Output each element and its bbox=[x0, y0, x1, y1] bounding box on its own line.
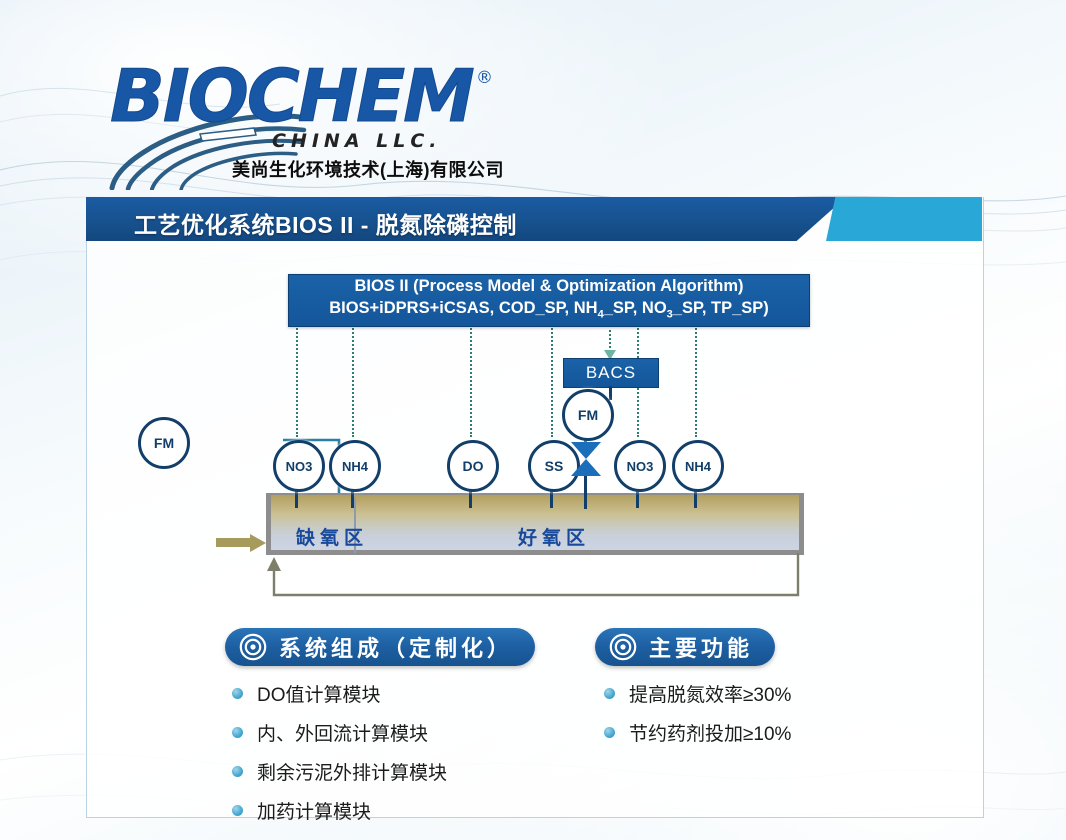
influent-arrow-icon bbox=[216, 534, 268, 552]
dashed-link-nh4-anoxic bbox=[352, 325, 354, 437]
target-icon bbox=[239, 633, 267, 661]
sensor-nh4-anoxic[interactable]: NH4 bbox=[329, 440, 381, 492]
bullet-dot-icon bbox=[232, 805, 243, 816]
slide-title-bar: 工艺优化系统BIOS II - 脱氮除磷控制 bbox=[86, 197, 982, 241]
bios-box-line1: BIOS II (Process Model & Optimization Al… bbox=[355, 275, 744, 297]
sensor-do-label: DO bbox=[463, 458, 484, 474]
list-item-label: 加药计算模块 bbox=[257, 797, 371, 824]
logo-registered-mark: ® bbox=[476, 68, 493, 88]
bacs-controller-box: BACS bbox=[563, 358, 659, 388]
list-item-label: 节约药剂投加≥10% bbox=[629, 719, 791, 746]
bios-model-box: BIOS II (Process Model & Optimization Al… bbox=[288, 274, 810, 327]
bullet-dot-icon bbox=[232, 688, 243, 699]
bullet-dot-icon bbox=[604, 727, 615, 738]
sensor-nh4-aerobic[interactable]: NH4 bbox=[672, 440, 724, 492]
sensor-nh4-aerobic-label: NH4 bbox=[685, 459, 711, 474]
brand-logo: BIOCHEM ® CHINA LLC. 美尚生化环境技术(上海)有限公司 bbox=[104, 52, 524, 184]
recirculation-line bbox=[261, 553, 806, 605]
section-header-main-functions: 主要功能 bbox=[595, 628, 775, 666]
list-item: 提高脱氮效率≥30% bbox=[604, 680, 791, 707]
sensor-no3-aerobic-label: NO3 bbox=[627, 459, 654, 474]
target-icon bbox=[609, 633, 637, 661]
bacs-label: BACS bbox=[586, 363, 636, 383]
sensor-fm-inlet-label: FM bbox=[154, 435, 174, 451]
control-valve-icon bbox=[569, 440, 603, 478]
logo-subtitle-cn: 美尚生化环境技术(上海)有限公司 bbox=[232, 156, 504, 182]
stem-fm-air-lower bbox=[584, 473, 587, 509]
sensor-nh4-anoxic-label: NH4 bbox=[342, 459, 368, 474]
list-item-label: 提高脱氮效率≥30% bbox=[629, 680, 791, 707]
sensor-no3-aerobic[interactable]: NO3 bbox=[614, 440, 666, 492]
list-item: DO值计算模块 bbox=[232, 680, 447, 707]
sensor-ss-label: SS bbox=[545, 458, 564, 474]
bullet-dot-icon bbox=[232, 727, 243, 738]
sensor-no3-anoxic[interactable]: NO3 bbox=[273, 440, 325, 492]
bios-line2-p0: BIOS+iDPRS+iCSAS, COD_SP, NH bbox=[329, 299, 597, 317]
list-item-label: 内、外回流计算模块 bbox=[257, 719, 428, 746]
sensor-no3-anoxic-label: NO3 bbox=[286, 459, 313, 474]
tank-zone-aerobic-label: 好氧区 bbox=[518, 523, 590, 550]
bullet-dot-icon bbox=[604, 688, 615, 699]
logo-wordmark: BIOCHEM bbox=[110, 56, 473, 136]
main-functions-list: 提高脱氮效率≥30% 节约药剂投加≥10% bbox=[604, 680, 791, 758]
section-header-system-composition: 系统组成（定制化） bbox=[225, 628, 535, 666]
section-title-system-composition: 系统组成（定制化） bbox=[279, 631, 513, 663]
list-item: 节约药剂投加≥10% bbox=[604, 719, 791, 746]
dashed-link-ss bbox=[551, 325, 553, 437]
title-bar-cyan-segment bbox=[826, 197, 982, 241]
list-item: 内、外回流计算模块 bbox=[232, 719, 447, 746]
page-title: 工艺优化系统BIOS II - 脱氮除磷控制 bbox=[134, 206, 517, 240]
sensor-fm-inlet[interactable]: FM bbox=[138, 417, 190, 469]
section-title-main-functions: 主要功能 bbox=[649, 631, 753, 663]
logo-subtitle-en: CHINA LLC. bbox=[272, 130, 442, 152]
dashed-link-nh4-aerobic bbox=[695, 325, 697, 437]
tank-zone-anoxic-label: 缺氧区 bbox=[296, 523, 368, 550]
dashed-link-no3-anoxic bbox=[296, 325, 298, 437]
bios-line2-p4: _SP, TP_SP) bbox=[673, 299, 769, 317]
list-item-label: 剩余污泥外排计算模块 bbox=[257, 758, 447, 785]
sensor-do[interactable]: DO bbox=[447, 440, 499, 492]
bios-box-line2: BIOS+iDPRS+iCSAS, COD_SP, NH4_SP, NO3_SP… bbox=[329, 297, 769, 325]
list-item: 剩余污泥外排计算模块 bbox=[232, 758, 447, 785]
slide-root: BIOCHEM ® CHINA LLC. 美尚生化环境技术(上海)有限公司 工艺… bbox=[0, 0, 1066, 840]
sensor-fm-air-label: FM bbox=[578, 407, 598, 423]
system-composition-list: DO值计算模块 内、外回流计算模块 剩余污泥外排计算模块 加药计算模块 bbox=[232, 680, 447, 836]
bullet-dot-icon bbox=[232, 766, 243, 777]
dashed-link-bacs bbox=[609, 325, 611, 352]
list-item-label: DO值计算模块 bbox=[257, 680, 381, 707]
stem-bacs-to-fm bbox=[609, 386, 612, 400]
dashed-link-do bbox=[470, 325, 472, 437]
sensor-fm-air[interactable]: FM bbox=[562, 389, 614, 441]
list-item: 加药计算模块 bbox=[232, 797, 447, 824]
bios-line2-p2: _SP, NO bbox=[604, 299, 667, 317]
process-diagram: BIOS II (Process Model & Optimization Al… bbox=[86, 241, 982, 611]
